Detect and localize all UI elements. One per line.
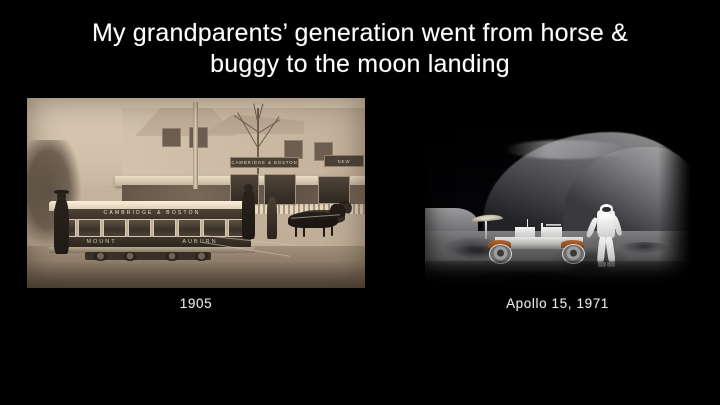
conductor-figure xyxy=(54,197,69,254)
slide-title: My grandparents’ generation went from ho… xyxy=(0,18,720,80)
streetcar-window xyxy=(153,219,176,237)
horse-leg xyxy=(295,226,297,237)
streetcar-route-left: MOUNT xyxy=(86,239,116,245)
streetcar-wheel xyxy=(194,252,209,261)
figure-row: CAMBRIDGE & BOSTON NEW CAMBRIDGE & BOSTO… xyxy=(0,98,720,328)
streetcar-window xyxy=(103,219,126,237)
second-figure xyxy=(267,197,277,239)
utility-pole xyxy=(193,102,198,189)
streetcar-wheel xyxy=(165,252,180,261)
streetcar-destination-sign: CAMBRIDGE & BOSTON xyxy=(54,209,251,219)
slide-title-line-2: buggy to the moon landing xyxy=(0,49,720,80)
horse-leg xyxy=(323,226,325,237)
figure-apollo-15: Apollo 15, 1971 xyxy=(425,98,690,288)
presentation-slide: My grandparents’ generation went from ho… xyxy=(0,0,720,405)
streetcar-wheel xyxy=(93,252,108,261)
figure-caption-left: 1905 xyxy=(27,296,365,311)
bottom-edge-fade xyxy=(425,258,690,288)
ground-shadow xyxy=(27,261,365,288)
horse-leg xyxy=(331,226,333,236)
dormer-window xyxy=(162,128,181,147)
streetcar-window xyxy=(178,219,201,237)
streetcar-window xyxy=(78,219,101,237)
horse-head-far xyxy=(337,200,352,214)
helmet-visor xyxy=(602,207,611,212)
streetcar-window-row xyxy=(54,219,251,237)
storefront-sign-new: NEW xyxy=(324,155,363,167)
horse-pair xyxy=(284,208,352,237)
slide-title-line-1: My grandparents’ generation went from ho… xyxy=(0,18,720,49)
figure-historic-streetcar: CAMBRIDGE & BOSTON NEW CAMBRIDGE & BOSTO… xyxy=(27,98,365,288)
horse-leg xyxy=(303,226,305,237)
streetcar-window xyxy=(128,219,151,237)
mountain-ridge-line xyxy=(505,140,627,159)
apollo-15-image xyxy=(425,98,690,288)
streetcar: CAMBRIDGE & BOSTON MOUNT AUBURN xyxy=(47,201,257,258)
storefront-sign: CAMBRIDGE & BOSTON xyxy=(230,157,300,169)
astronaut xyxy=(592,204,621,265)
streetcar-window xyxy=(203,219,226,237)
standing-man-figure xyxy=(242,189,256,238)
historic-streetcar-image: CAMBRIDGE & BOSTON NEW CAMBRIDGE & BOSTO… xyxy=(27,98,365,288)
figure-caption-right: Apollo 15, 1971 xyxy=(425,296,690,311)
bare-tree-right xyxy=(216,102,304,186)
